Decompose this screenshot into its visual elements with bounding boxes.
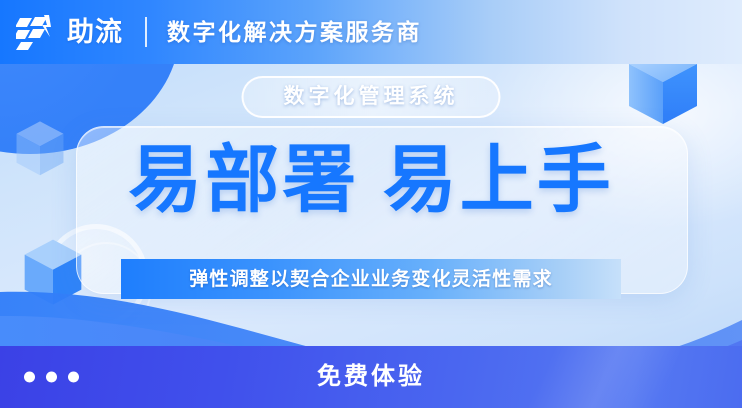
carousel-indicators[interactable] [24, 372, 79, 383]
hero-badge: 数字化管理系统 [242, 76, 501, 118]
promo-banner: 助流 数字化解决方案服务商 数字化管理系统 易部署 易上手 弹性调整以契合企业业… [0, 0, 742, 408]
cta-band[interactable]: 免费体验 [0, 346, 742, 408]
carousel-dot[interactable] [46, 372, 57, 383]
hero-subtitle-bar: 弹性调整以契合企业业务变化灵活性需求 [121, 259, 621, 299]
hero-headline: 易部署 易上手 [0, 143, 742, 217]
flow-lightning-logo-icon [16, 13, 58, 51]
free-trial-button-label[interactable]: 免费体验 [317, 365, 425, 389]
brand-logo[interactable]: 助流 [16, 13, 123, 51]
header-divider [145, 17, 147, 47]
header-tagline: 数字化解决方案服务商 [167, 21, 422, 44]
carousel-dot[interactable] [68, 372, 79, 383]
carousel-dot[interactable] [24, 372, 35, 383]
site-header: 助流 数字化解决方案服务商 [0, 0, 742, 64]
brand-logo-text: 助流 [67, 19, 123, 46]
